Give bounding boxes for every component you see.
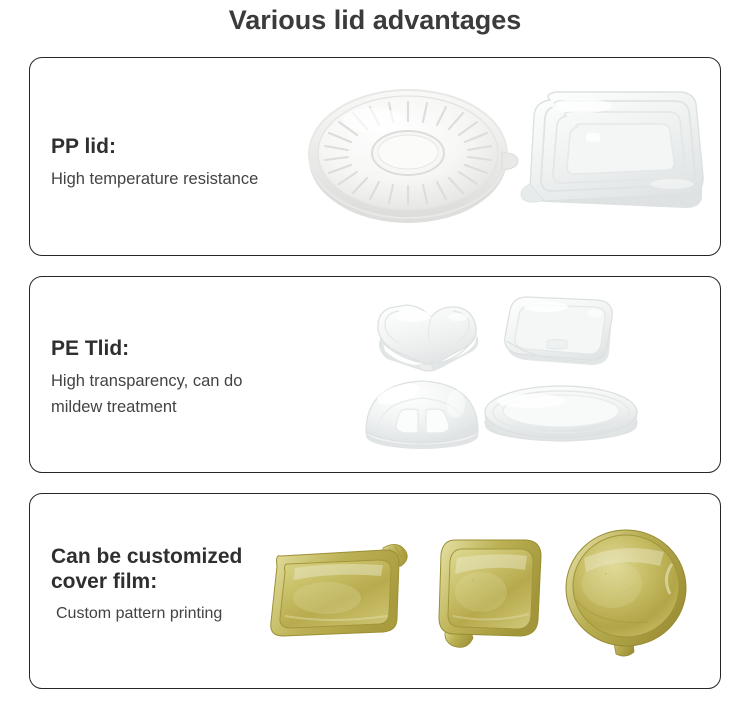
gold-round-foil-lid-image: [560, 526, 696, 658]
panel-pe-t-lid-text: PE Tlid: High transparency, can do milde…: [51, 336, 242, 420]
square-pe-lid-image: [491, 283, 626, 378]
panel-custom-cover-film: Can be customized cover film: Custom pat…: [29, 493, 721, 689]
rectangular-pp-lid-image: [504, 72, 719, 237]
panel-pe-t-lid-heading: PE Tlid:: [51, 336, 242, 361]
panel-custom-cover-film-text: Can be customized cover film: Custom pat…: [51, 544, 242, 627]
panel-custom-cover-film-description: Custom pattern printing: [51, 601, 242, 627]
heart-shaped-pe-lid-image: [365, 285, 490, 380]
panel-pp-lid: PP lid: High temperature resistance: [29, 57, 721, 256]
gold-rectangular-foil-lid-image: [265, 532, 425, 652]
gold-square-foil-lid-image: [429, 530, 557, 656]
panel-pe-t-lid-description: High transparency, can do mildew treatme…: [51, 368, 242, 420]
panel-pp-lid-text: PP lid: High temperature resistance: [51, 134, 258, 192]
panel-pe-t-lid: PE Tlid: High transparency, can do milde…: [29, 276, 721, 473]
panel-custom-cover-film-heading: Can be customized cover film:: [51, 544, 242, 594]
dome-pe-lid-image: [358, 370, 488, 455]
flat-oval-pe-lid-image: [479, 381, 644, 449]
panel-pp-lid-heading: PP lid:: [51, 134, 258, 159]
page-title: Various lid advantages: [0, 5, 750, 36]
infographic-page: Various lid advantages PP lid: High temp…: [0, 0, 750, 711]
round-ribbed-pp-lid-image: [305, 80, 520, 230]
panel-pp-lid-description: High temperature resistance: [51, 166, 258, 192]
